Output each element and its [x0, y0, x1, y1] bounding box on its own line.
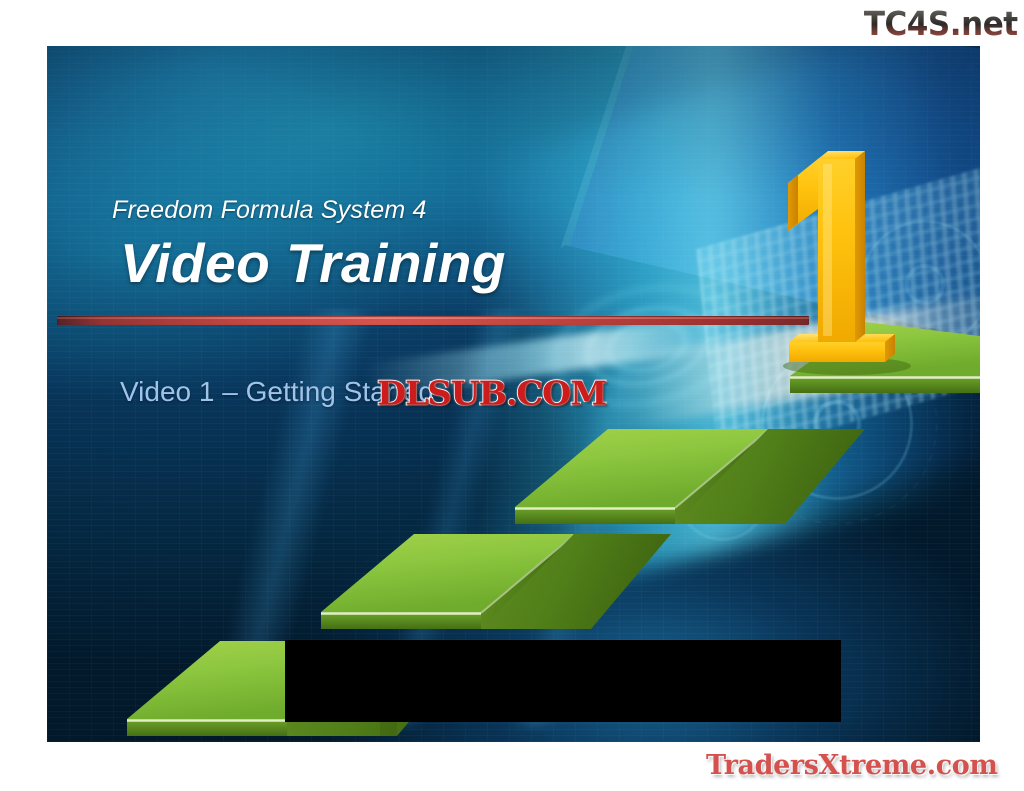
tradersxtreme-brand-bottom: TradersXtreme.com: [706, 750, 998, 781]
page-canvas: TC4S.net: [0, 0, 1024, 791]
dlsub-watermark: DLSUB.COM: [377, 375, 606, 413]
black-redaction-bar: [285, 640, 841, 722]
tc4s-brand-label: TC4S.net: [864, 7, 1018, 40]
tc4s-brand-top: TC4S.net: [798, 2, 1018, 44]
presentation-slide: Freedom Formula System 4 Video Training …: [47, 46, 980, 742]
